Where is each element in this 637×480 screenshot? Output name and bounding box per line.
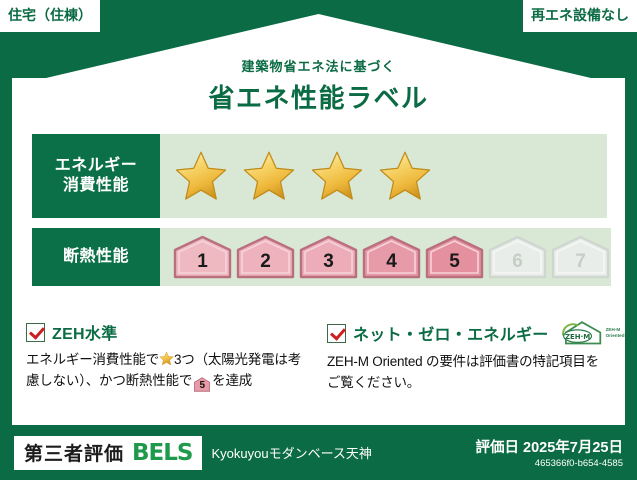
insulation-level-value: 7 xyxy=(575,252,586,279)
badge-building-type: 住宅（住棟） xyxy=(0,0,100,32)
zeh-m-logo: ZEH·M ZEH-M Oriented xyxy=(560,320,625,346)
label-footer: 第三者評価 BELS Kyokuyouモダンベース天神 評価日 2025年7月2… xyxy=(0,425,637,480)
row-energy-content xyxy=(160,134,607,218)
note-left-text3: を達成 xyxy=(212,373,252,388)
insulation-level-4: 4 xyxy=(361,235,422,279)
row-energy-performance: エネルギー 消費性能 xyxy=(32,134,607,218)
insulation-level-1: 1 xyxy=(172,235,233,279)
evaluation-info: 評価日 2025年7月25日 465366f0-b654-4585 xyxy=(476,436,623,469)
insulation-level-value: 3 xyxy=(323,252,334,279)
bels-jp-text: 第三者評価 xyxy=(24,439,124,466)
insulation-level-7: 7 xyxy=(550,235,611,279)
inline-star-icon xyxy=(159,351,174,366)
energy-performance-label: 住宅（住棟） 再エネ設備なし 建築物省エネ法に基づく 省エネ性能ラベル エネルギ… xyxy=(0,0,637,480)
insulation-level-scale: 1234567 xyxy=(172,235,611,279)
note-left-text1: エネルギー消費性能で xyxy=(26,352,159,367)
bels-en-text: BELS xyxy=(132,440,192,466)
zeh-m-sub-line1: ZEH-M xyxy=(606,327,621,332)
star-icon xyxy=(310,150,364,202)
row-energy-label-line1: エネルギー xyxy=(55,156,138,176)
bels-badge: 第三者評価 BELS xyxy=(14,436,202,470)
star-icon xyxy=(174,150,228,202)
title-subtitle: 建築物省エネ法に基づく xyxy=(0,56,637,75)
checkbox-checked-icon xyxy=(327,324,346,343)
zeh-m-sub-line2: Oriented xyxy=(606,333,625,338)
criteria-notes: ZEH水準 エネルギー消費性能で 3つ（太陽光発電は考慮しない）、かつ断熱性能で… xyxy=(26,320,616,394)
zeh-m-house-icon: ZEH·M xyxy=(560,320,604,346)
insulation-level-value: 6 xyxy=(512,252,523,279)
label-title-group: 建築物省エネ法に基づく 省エネ性能ラベル xyxy=(0,56,637,115)
row-insulation-label-line1: 断熱性能 xyxy=(63,247,129,267)
insulation-level-3: 3 xyxy=(298,235,359,279)
zeh-m-logo-text: ZEH·M xyxy=(565,333,590,341)
star-rating xyxy=(174,150,432,202)
insulation-level-value: 2 xyxy=(260,252,271,279)
star-icon xyxy=(242,150,296,202)
note-net-zero-head: ネット・ゼロ・エネルギー ZEH·M ZEH-M Oriented xyxy=(327,320,606,346)
building-name: Kyokuyouモダンベース天神 xyxy=(211,443,371,462)
star-icon xyxy=(378,150,432,202)
zeh-m-logo-subtext: ZEH-M Oriented xyxy=(606,327,625,338)
evaluation-id: 465366f0-b654-4585 xyxy=(476,458,623,469)
note-zeh-standard: ZEH水準 エネルギー消費性能で 3つ（太陽光発電は考慮しない）、かつ断熱性能で… xyxy=(26,320,321,394)
row-energy-label-line2: 消費性能 xyxy=(63,176,129,196)
insulation-level-6: 6 xyxy=(487,235,548,279)
note-net-zero-body: ZEH-M Oriented の要件は評価書の特記項目をご覧ください。 xyxy=(327,352,606,394)
insulation-level-5: 5 xyxy=(424,235,485,279)
note-net-zero-energy: ネット・ゼロ・エネルギー ZEH·M ZEH-M Oriented xyxy=(321,320,616,394)
row-insulation-performance: 断熱性能 1234567 xyxy=(32,228,607,286)
row-insulation-content: 1234567 xyxy=(160,228,611,286)
note-net-zero-title: ネット・ゼロ・エネルギー xyxy=(353,321,549,345)
rating-rows: エネルギー 消費性能 断熱性能 1234567 xyxy=(32,134,607,286)
insulation-level-value: 4 xyxy=(386,252,397,279)
note-zeh-standard-head: ZEH水準 xyxy=(26,320,311,344)
note-zeh-standard-title: ZEH水準 xyxy=(52,320,118,344)
insulation-level-value: 5 xyxy=(449,252,460,279)
title-main: 省エネ性能ラベル xyxy=(0,78,637,115)
inline-house-badge-icon: 5 xyxy=(193,377,211,392)
inline-house-badge-value: 5 xyxy=(193,377,211,394)
row-insulation-label: 断熱性能 xyxy=(32,228,160,286)
insulation-level-2: 2 xyxy=(235,235,296,279)
insulation-level-value: 1 xyxy=(197,252,208,279)
evaluation-date: 評価日 2025年7月25日 xyxy=(476,436,623,457)
badge-renewable-equipment: 再エネ設備なし xyxy=(523,0,637,32)
note-zeh-standard-body: エネルギー消費性能で 3つ（太陽光発電は考慮しない）、かつ断熱性能で 5 を達成 xyxy=(26,350,311,392)
row-energy-label: エネルギー 消費性能 xyxy=(32,134,160,218)
checkbox-checked-icon xyxy=(26,323,45,342)
